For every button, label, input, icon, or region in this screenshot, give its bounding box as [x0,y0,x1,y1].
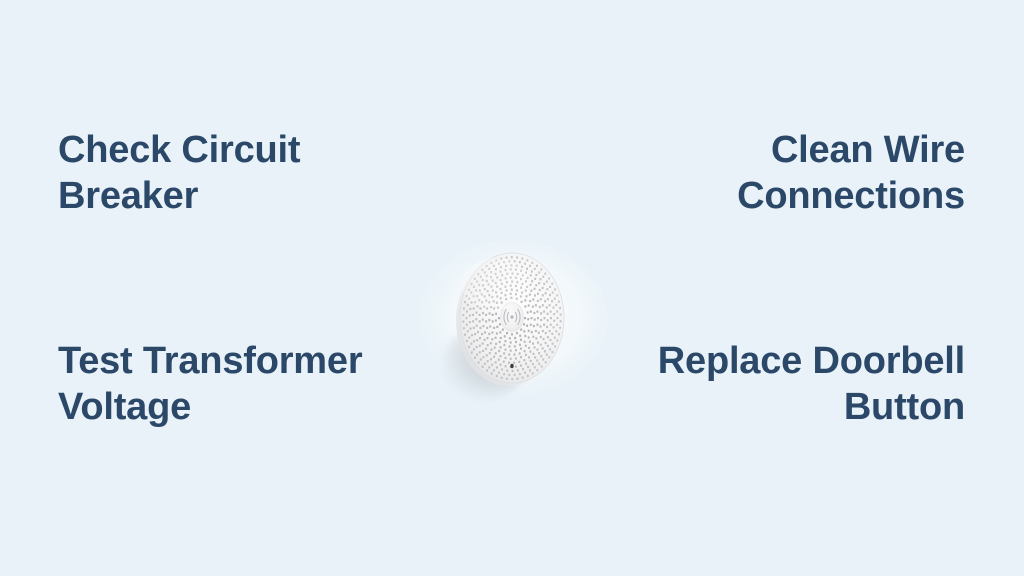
product-image [404,232,620,404]
chime-led-indicator [510,364,513,368]
label-test-transformer-voltage: Test Transformer Voltage [58,338,362,430]
chime-highlight [462,258,530,310]
label-replace-doorbell-button: Replace Doorbell Button [658,338,965,430]
infographic-slide: Check Circuit Breaker Clean Wire Connect… [0,0,1024,576]
label-clean-wire-connections: Clean Wire Connections [737,127,965,219]
doorbell-chime-illustration [404,232,620,404]
label-check-circuit-breaker: Check Circuit Breaker [58,127,300,219]
